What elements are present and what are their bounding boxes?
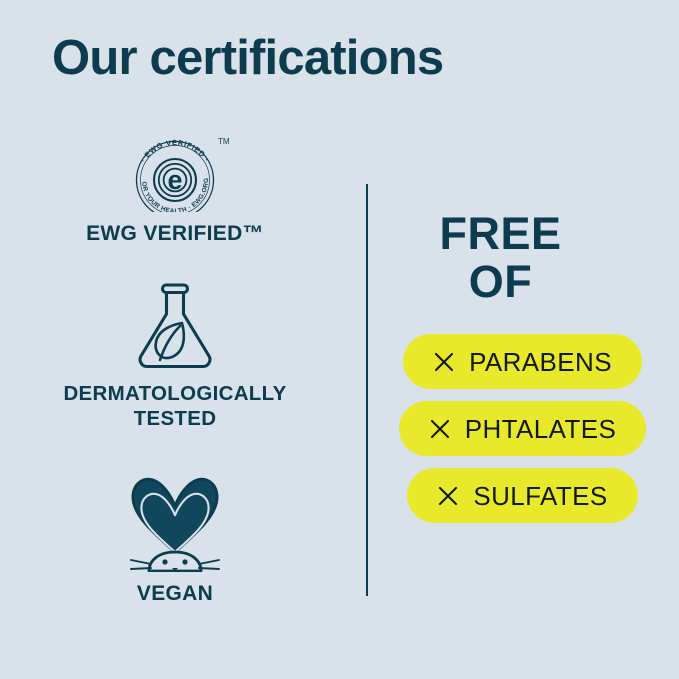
certification-label-ewg: EWG VERIFIED™	[0, 221, 350, 247]
free-of-pill-sulfates: SULFATES	[407, 468, 637, 523]
free-of-pill-label: PARABENS	[469, 349, 612, 375]
cross-x-icon	[429, 418, 451, 440]
page-title: Our certifications	[52, 33, 443, 84]
svg-text:e: e	[167, 165, 182, 195]
free-of-section: FREE OF PARABENS PHTALA	[366, 210, 679, 523]
certification-label-dermatologically-tested: DERMATOLOGICALLY TESTED	[0, 381, 350, 431]
vegan-bunny-heart-ears-icon	[0, 464, 350, 572]
certification-item-vegan: VEGAN	[0, 464, 350, 607]
free-of-pill-list: PARABENS PHTALATES SUL	[366, 334, 679, 523]
svg-text:TM: TM	[218, 137, 230, 146]
free-of-heading: FREE OF	[366, 210, 679, 306]
free-of-pill-label: PHTALATES	[465, 416, 616, 442]
free-of-pill-phtalates: PHTALATES	[399, 401, 646, 456]
certifications-list: · EWG VERIFIED · FOR YOUR HEALTH · EWG.O…	[0, 128, 350, 607]
certifications-panel: Our certifications · EWG VERIFIED ·	[0, 0, 679, 679]
certification-item-ewg: · EWG VERIFIED · FOR YOUR HEALTH · EWG.O…	[0, 128, 350, 258]
certification-label-vegan: VEGAN	[0, 581, 350, 607]
free-of-pill-label: SULFATES	[473, 483, 607, 509]
cross-x-icon	[433, 351, 455, 373]
free-of-pill-parabens: PARABENS	[403, 334, 642, 389]
flask-with-leaf-icon	[0, 272, 350, 372]
ewg-verified-seal-icon: · EWG VERIFIED · FOR YOUR HEALTH · EWG.O…	[0, 128, 350, 212]
certification-item-dermatologically-tested: DERMATOLOGICALLY TESTED	[0, 272, 350, 452]
cross-x-icon	[437, 485, 459, 507]
